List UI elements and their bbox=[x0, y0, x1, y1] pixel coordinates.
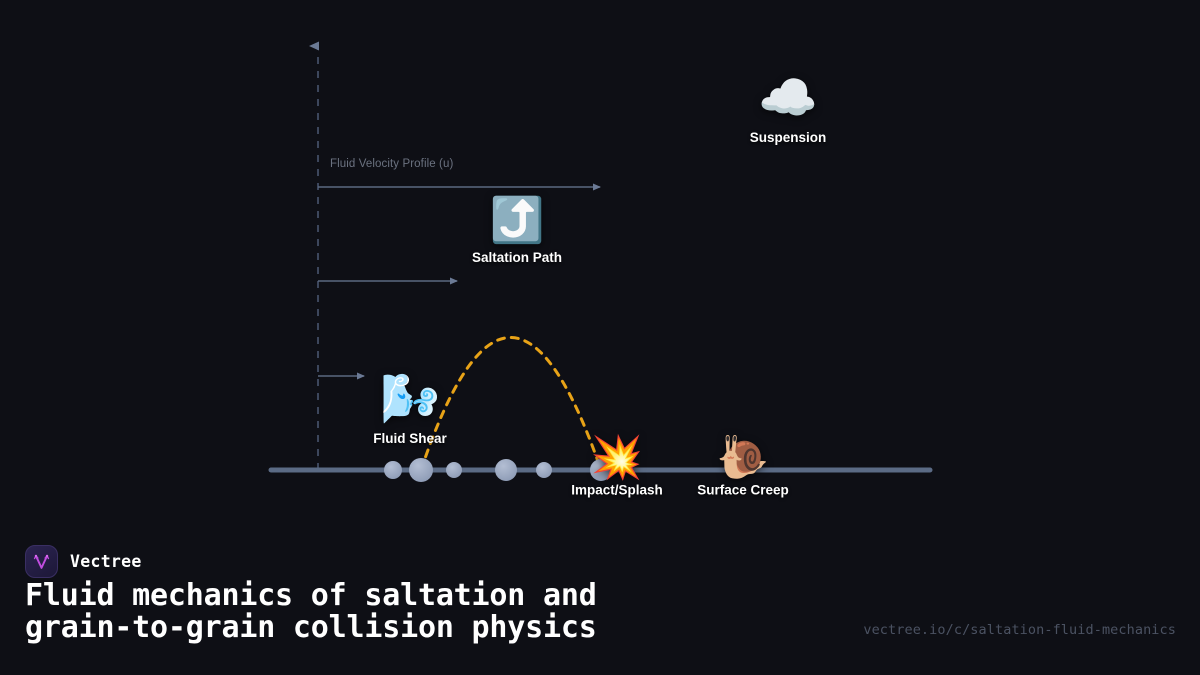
collision-icon: 💥 bbox=[591, 437, 643, 479]
node-fluid-shear[interactable]: 🌬️ Fluid Shear bbox=[373, 376, 447, 446]
node-label-saltation-path: Saltation Path bbox=[472, 250, 562, 265]
node-impact-splash[interactable]: 💥 Impact/Splash bbox=[571, 437, 663, 498]
cloud-icon: ☁️ bbox=[758, 75, 818, 123]
diagram-canvas: Fluid Velocity Profile (u) ☁️ Suspension… bbox=[0, 0, 1200, 520]
footer: Vectree Fluid mechanics of saltation and… bbox=[0, 520, 1200, 675]
axis-caption: Fluid Velocity Profile (u) bbox=[330, 158, 453, 170]
node-label-fluid-shear: Fluid Shear bbox=[373, 431, 447, 446]
vectree-logo-icon bbox=[25, 545, 58, 578]
page-title: Fluid mechanics of saltation and grain-t… bbox=[25, 580, 845, 645]
grain bbox=[536, 462, 552, 478]
footer-url: vectree.io/c/saltation-fluid-mechanics bbox=[863, 622, 1176, 638]
node-label-surface-creep: Surface Creep bbox=[697, 483, 789, 498]
node-label-impact-splash: Impact/Splash bbox=[571, 483, 663, 498]
snail-icon: 🐌 bbox=[717, 437, 769, 479]
wind-blowing-icon: 🌬️ bbox=[380, 376, 440, 424]
arrow-curving-up-icon: ⤴️ bbox=[490, 199, 545, 243]
grain bbox=[409, 458, 433, 482]
brand-name: Vectree bbox=[70, 552, 142, 571]
grain bbox=[446, 462, 462, 478]
brand-row[interactable]: Vectree bbox=[25, 545, 142, 578]
node-saltation-path[interactable]: ⤴️ Saltation Path bbox=[472, 199, 562, 265]
node-surface-creep[interactable]: 🐌 Surface Creep bbox=[697, 437, 789, 498]
node-label-suspension: Suspension bbox=[750, 130, 827, 145]
node-suspension[interactable]: ☁️ Suspension bbox=[750, 75, 827, 145]
grain bbox=[384, 461, 402, 479]
grain bbox=[495, 459, 517, 481]
